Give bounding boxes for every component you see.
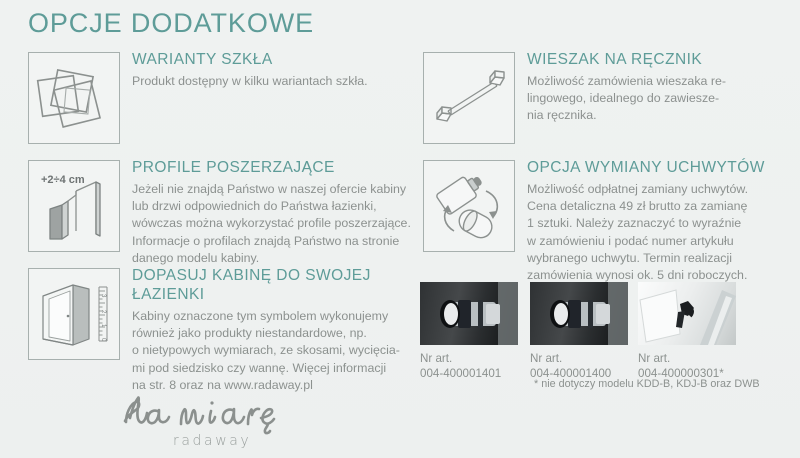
product-item: Nr art. 004-400000301*	[638, 282, 736, 381]
product-caption-line2: 004-400001401	[420, 367, 518, 382]
text-line: o nietypowych wymiarach, ze skosami, wyc…	[132, 342, 407, 359]
page-title: OPCJE DODATKOWE	[28, 8, 314, 39]
handle-exchange-icon	[423, 160, 515, 252]
text-line: Cena detaliczna 49 zł brutto za zamianę	[527, 198, 777, 215]
product-caption: Nr art. 004-400000301*	[638, 352, 736, 381]
text-line: Informacje o profilach znajdą Państwo na…	[132, 233, 407, 250]
product-caption-line1: Nr art.	[530, 352, 628, 367]
feature-title: PROFILE POSZERZAJĄCE	[132, 158, 407, 177]
glass-panes-icon	[28, 52, 120, 144]
handle-knob-photo-dark-2	[530, 282, 628, 345]
feature-body: OPCJA WYMIANY UCHWYTÓW Możliwość odpłatn…	[527, 158, 777, 284]
text-line: danego modelu kabiny.	[132, 250, 407, 267]
feature-title: WIESZAK NA RĘCZNIK	[527, 50, 757, 69]
widening-profile-icon-label: +2÷4 cm	[41, 174, 85, 186]
text-line: wówczas można wykorzystać profile poszer…	[132, 215, 407, 232]
feature-title: OPCJA WYMIANY UCHWYTÓW	[527, 158, 777, 177]
towel-rail-icon	[423, 52, 515, 144]
feature-body: WIESZAK NA RĘCZNIK Możliwość zamówienia …	[527, 50, 757, 125]
text-line: w zamówieniu i podać numer artykułu	[527, 233, 777, 250]
text-line: Jeżeli nie znajdą Państwo w naszej oferc…	[132, 181, 407, 198]
na-miare-logo: radaway	[118, 388, 288, 454]
product-caption-line1: Nr art.	[420, 352, 518, 367]
feature-text: Jeżeli nie znajdą Państwo w naszej oferc…	[132, 181, 407, 267]
text-line: wybranego uchwytu. Termin realizacji	[527, 250, 777, 267]
product-caption: Nr art. 004-400001401	[420, 352, 518, 381]
text-line: Kabiny oznaczone tym symbolem wykonujemy	[132, 308, 407, 325]
feature-text: Możliwość zamówienia wieszaka re- lingow…	[527, 73, 757, 125]
product-caption: Nr art. 004-400001400	[530, 352, 628, 381]
text-line: Możliwość odpłatnej zamiany uchwytów.	[527, 181, 777, 198]
feature-body: WARIANTY SZKŁA Produkt dostępny w kilku …	[132, 50, 397, 90]
product-item: Nr art. 004-400001401	[420, 282, 518, 381]
text-line: lub drzwi odpowiednich do Państwa łazien…	[132, 198, 407, 215]
text-line: Produkt dostępny w kilku wariantach szkł…	[132, 73, 397, 90]
ruler-label-3: 3	[100, 294, 106, 298]
brand-wordmark: radaway	[173, 433, 251, 449]
feature-text: Możliwość odpłatnej zamiany uchwytów. Ce…	[527, 181, 777, 284]
feature-title: WARIANTY SZKŁA	[132, 50, 397, 69]
shower-cabin-ruler-icon: 3 2 1 0	[28, 268, 120, 360]
feature-body: PROFILE POSZERZAJĄCE Jeżeli nie znajdą P…	[132, 158, 407, 267]
handle-hook-photo-light	[638, 282, 736, 345]
feature-title-line1: DOPASUJ KABINĘ	[132, 267, 272, 284]
feature-body: DOPASUJ KABINĘ DO SWOJEJ ŁAZIENKI Kabiny…	[132, 266, 407, 394]
product-item: Nr art. 004-400001400	[530, 282, 628, 381]
ruler-label-2: 2	[100, 310, 106, 314]
feature-title: DOPASUJ KABINĘ DO SWOJEJ ŁAZIENKI	[132, 266, 407, 304]
product-caption-line1: Nr art.	[638, 352, 736, 367]
products-footnote: * nie dotyczy modelu KDD-B, KDJ-B oraz D…	[534, 378, 760, 390]
handle-knob-photo-dark-1	[420, 282, 518, 345]
text-line: Możliwość zamówienia wieszaka re-	[527, 73, 757, 90]
text-line: nia ręcznika.	[527, 107, 757, 124]
text-line: lingowego, idealnego do zawiesze-	[527, 90, 757, 107]
text-line: również jako produkty niestandardowe, np…	[132, 325, 407, 342]
text-line: mi pod siedzisko czy wannę. Więcej infor…	[132, 360, 407, 377]
text-line: 1 sztuki. Należy zaznaczyć to wyraźnie	[527, 215, 777, 232]
feature-text: Kabiny oznaczone tym symbolem wykonujemy…	[132, 308, 407, 394]
widening-profile-icon: +2÷4 cm	[28, 160, 120, 252]
feature-text: Produkt dostępny w kilku wariantach szkł…	[132, 73, 397, 90]
additional-options-page: OPCJE DODATKOWE WARIANTY SZKŁA Produkt d…	[0, 0, 800, 458]
